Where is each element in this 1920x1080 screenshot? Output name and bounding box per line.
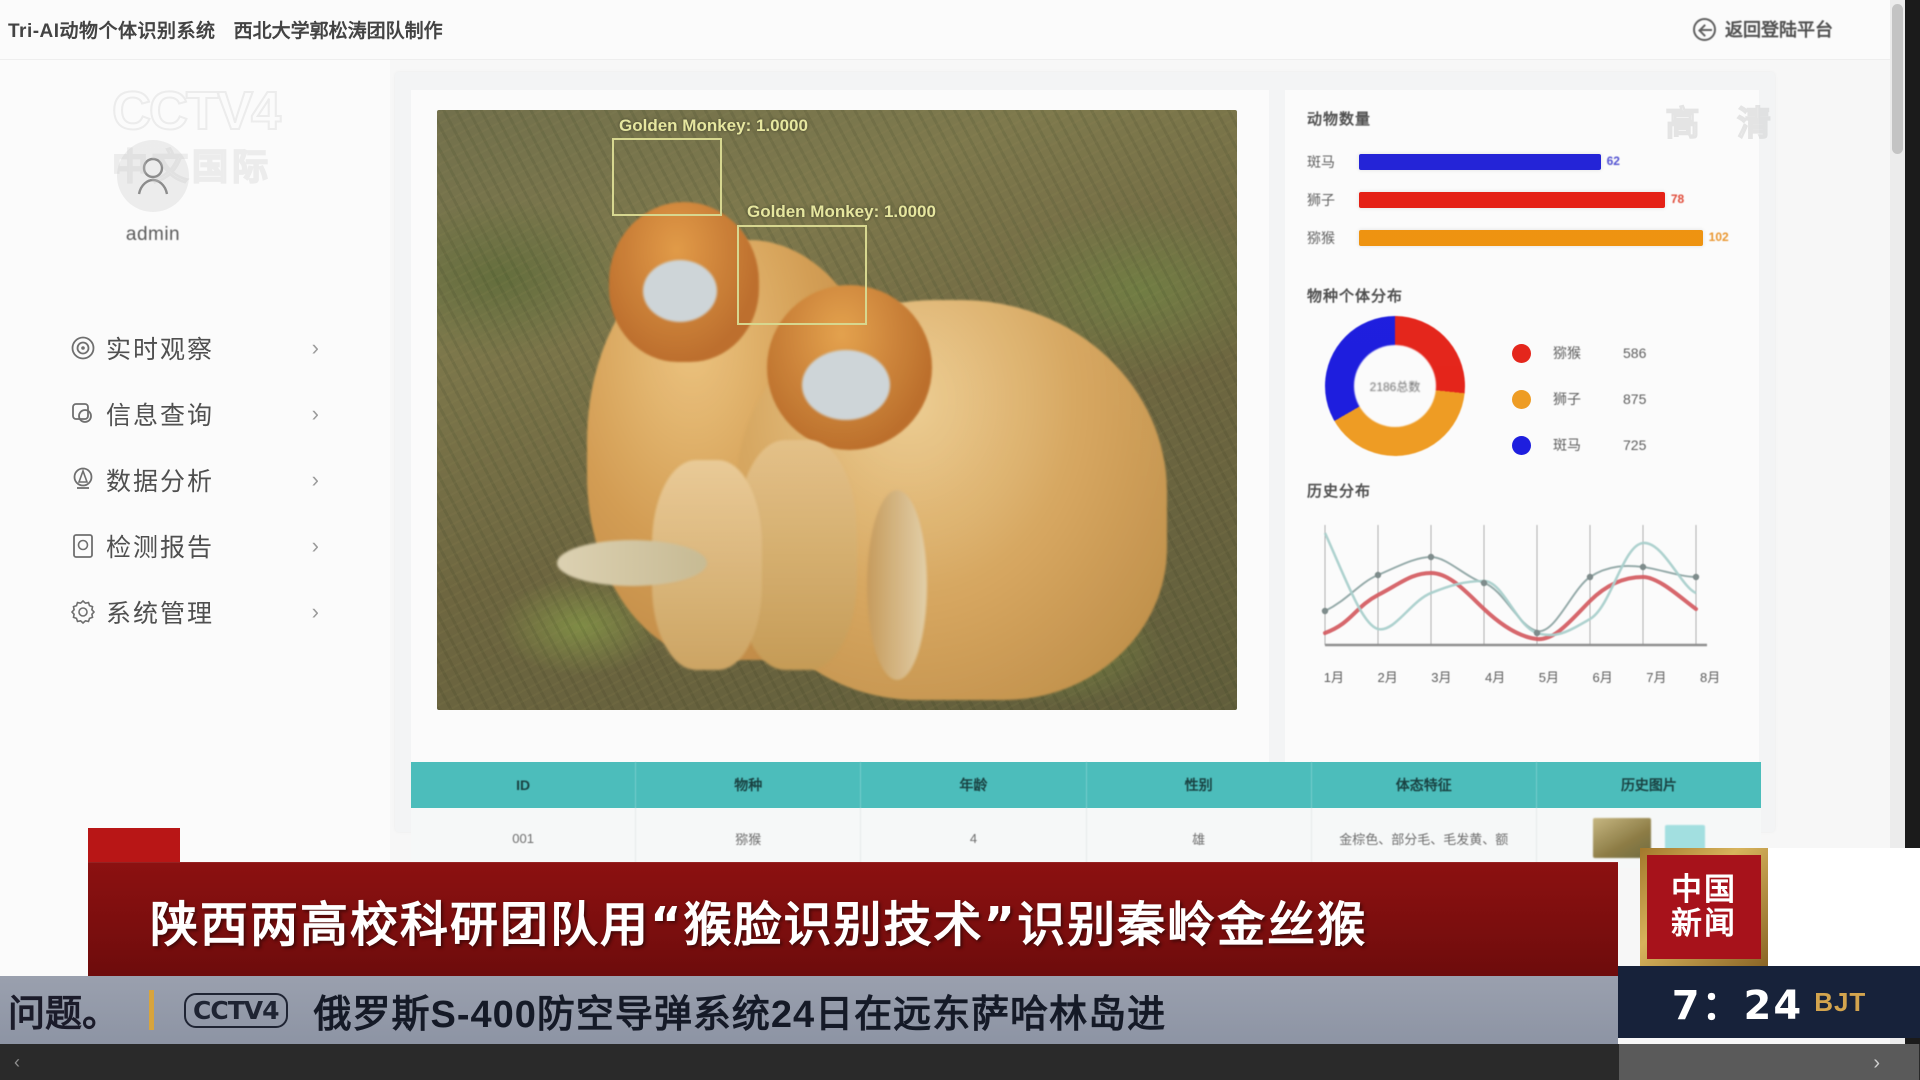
bar-category-label: 狮子 (1307, 190, 1359, 210)
clock-bar: 7：24 BJT (1618, 966, 1920, 1038)
bar-value-label: 78 (1671, 192, 1684, 206)
app-subtitle: 西北大学郭松涛团队制作 (234, 16, 443, 43)
bar-row: 斑马 62 (1307, 143, 1737, 181)
circle-arrow-left-icon (1693, 18, 1716, 41)
sidebar-item-system-management[interactable]: 系统管理 › (60, 579, 325, 645)
legend-color-dot (1512, 344, 1531, 363)
chevron-right-icon: › (312, 467, 325, 493)
sidebar-item-label: 系统管理 (106, 594, 312, 630)
detection-image: Golden Monkey: 1.0000 Golden Monkey: 1.0… (437, 110, 1237, 710)
animal-count-title: 动物数量 (1307, 108, 1737, 129)
x-tick-label: 8月 (1683, 667, 1737, 686)
bar-row: 猕猴 102 (1307, 219, 1737, 257)
app-title: Tri-AI动物个体识别系统 (8, 16, 216, 43)
x-tick-label: 3月 (1415, 667, 1469, 686)
x-tick-label: 1月 (1307, 667, 1361, 686)
bar-fill (1359, 154, 1601, 170)
program-badge-line2: 新闻 (1671, 908, 1737, 941)
copy-icon (60, 401, 106, 427)
ticker-previous-text: 问题。 (8, 983, 119, 1037)
sidebar-item-realtime[interactable]: 实时观察 › (60, 315, 325, 381)
sidebar-item-data-analysis[interactable]: 数据分析 › (60, 447, 325, 513)
legend-color-dot (1512, 436, 1531, 455)
sidebar-item-label: 数据分析 (106, 462, 312, 498)
sidebar-menu: 实时观察 › 信息查询 › 数据分析 (60, 315, 325, 645)
x-tick-label: 5月 (1522, 667, 1576, 686)
species-distribution-chart: 物种个体分布 2186总数 猕猴 586 (1307, 285, 1737, 468)
species-distribution-title: 物种个体分布 (1307, 285, 1737, 306)
user-avatar-icon (117, 140, 189, 212)
chevron-left-icon: ‹ (14, 1052, 20, 1073)
cell-id: 001 (411, 808, 636, 868)
column-header-age: 年龄 (861, 762, 1086, 808)
x-tick-label: 4月 (1468, 667, 1522, 686)
headline-text: 陕西两高校科研团队用“猴脸识别技术”识别秦岭金丝猴 (150, 885, 1367, 955)
legend-item: 斑马 725 (1512, 422, 1646, 468)
bar-fill (1359, 230, 1703, 246)
detection-panel: Golden Monkey: 1.0000 Golden Monkey: 1.0… (411, 90, 1269, 762)
back-to-platform-label: 返回登陆平台 (1725, 16, 1833, 42)
x-tick-label: 2月 (1361, 667, 1415, 686)
bar-fill (1359, 192, 1665, 208)
app-top-bar: Tri-AI动物个体识别系统 西北大学郭松涛团队制作 返回登陆平台 (0, 0, 1905, 60)
column-header-photo: 历史图片 (1537, 762, 1761, 808)
clock-timezone: BJT (1814, 987, 1866, 1018)
bar-category-label: 斑马 (1307, 152, 1359, 172)
dashboard-panel: Golden Monkey: 1.0000 Golden Monkey: 1.0… (395, 72, 1775, 832)
x-tick-label: 6月 (1576, 667, 1630, 686)
stats-column: 动物数量 斑马 62 狮子 (1285, 90, 1759, 762)
back-to-platform-button[interactable]: 返回登陆平台 (1693, 16, 1833, 42)
legend-color-dot (1512, 390, 1531, 409)
bar-category-label: 猕猴 (1307, 228, 1359, 248)
line-x-axis-labels: 1月 2月 3月 4月 5月 6月 7月 8月 (1307, 667, 1737, 686)
detection-box-label: Golden Monkey: 1.0000 (747, 202, 936, 222)
legend-item: 狮子 875 (1512, 376, 1646, 422)
analytics-icon (60, 467, 106, 493)
sidebar-item-info-query[interactable]: 信息查询 › (60, 381, 325, 447)
cell-age: 4 (861, 808, 1086, 868)
x-tick-label: 7月 (1630, 667, 1684, 686)
history-distribution-chart: 历史分布 (1307, 480, 1747, 665)
detection-box (612, 138, 722, 216)
news-ticker: 问题。 CCTV4 俄罗斯S-400防空导弹系统24日在远东萨哈林岛进 (0, 976, 1618, 1044)
gear-icon (60, 599, 106, 625)
sidebar-item-label: 检测报告 (106, 528, 312, 564)
detection-box (737, 225, 867, 325)
animal-count-chart: 动物数量 斑马 62 狮子 (1307, 108, 1737, 257)
legend-label: 狮子 (1553, 389, 1623, 409)
bar-value-label: 102 (1709, 230, 1729, 244)
donut-center-label: 2186总数 (1354, 345, 1436, 427)
badge-backdrop (1768, 848, 1920, 966)
broadcast-screen: Tri-AI动物个体识别系统 西北大学郭松涛团队制作 返回登陆平台 (0, 0, 1920, 1080)
cell-sex: 雄 (1087, 808, 1312, 868)
chevron-right-icon: › (312, 533, 325, 559)
legend-label: 猕猴 (1553, 343, 1623, 363)
column-header-sex: 性别 (1087, 762, 1312, 808)
program-badge-line1: 中国 (1671, 874, 1737, 907)
legend-item: 猕猴 586 (1512, 330, 1646, 376)
donut-legend: 猕猴 586 狮子 875 斑马 (1512, 330, 1646, 468)
table-row[interactable]: 001 猕猴 4 雄 金棕色、部分毛、毛发黄、额 (411, 808, 1761, 868)
chevron-right-icon: › (1873, 1052, 1880, 1075)
column-header-traits: 体态特征 (1312, 762, 1537, 808)
ticker-headline: 俄罗斯S-400防空导弹系统24日在远东萨哈林岛进 (314, 983, 1167, 1038)
report-icon (60, 533, 106, 559)
table-header-row: ID 物种 年龄 性别 体态特征 历史图片 (411, 762, 1761, 808)
chevron-right-icon: › (312, 335, 325, 361)
donut-ring: 2186总数 (1325, 316, 1465, 456)
sidebar-item-label: 实时观察 (106, 330, 312, 366)
detection-box-label: Golden Monkey: 1.0000 (619, 116, 808, 136)
column-header-species: 物种 (636, 762, 861, 808)
sidebar-item-detection-report[interactable]: 检测报告 › (60, 513, 325, 579)
target-icon (60, 335, 106, 361)
scrollbar-thumb[interactable] (1892, 4, 1903, 154)
user-name: admin (98, 224, 208, 246)
chevron-right-icon: › (312, 401, 325, 427)
cell-species: 猕猴 (636, 808, 861, 868)
legend-value: 586 (1623, 345, 1646, 361)
chevron-right-icon: › (312, 599, 325, 625)
column-header-id: ID (411, 762, 636, 808)
user-block: admin (98, 140, 208, 246)
line-chart-plot: 1月 2月 3月 4月 5月 6月 7月 8月 (1307, 515, 1737, 665)
records-table: ID 物种 年龄 性别 体态特征 历史图片 001 猕猴 4 雄 金棕色、部分毛… (411, 762, 1761, 868)
bar-row: 狮子 78 (1307, 181, 1737, 219)
legend-value: 725 (1623, 437, 1646, 453)
program-badge: 中国 新闻 (1640, 848, 1768, 966)
cell-traits: 金棕色、部分毛、毛发黄、额 (1312, 808, 1537, 868)
legend-label: 斑马 (1553, 435, 1623, 455)
ticker-divider (149, 990, 154, 1030)
sidebar-item-label: 信息查询 (106, 396, 312, 432)
cctv4-ticker-logo: CCTV4 (184, 993, 288, 1028)
history-distribution-title: 历史分布 (1307, 480, 1747, 501)
clock-time: 7：24 (1672, 973, 1804, 1031)
legend-value: 875 (1623, 391, 1646, 407)
bar-value-label: 62 (1607, 154, 1620, 168)
